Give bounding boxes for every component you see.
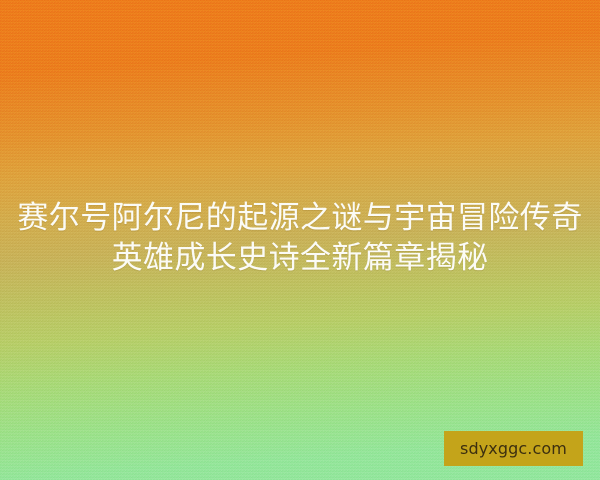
title-block: 赛尔号阿尔尼的起源之谜与宇宙冒险传奇 英雄成长史诗全新篇章揭秘 bbox=[0, 198, 600, 278]
title-card-canvas: 赛尔号阿尔尼的起源之谜与宇宙冒险传奇 英雄成长史诗全新篇章揭秘 sdyxggc.… bbox=[0, 0, 600, 480]
watermark-text: sdyxggc.com bbox=[460, 441, 567, 457]
title-line-1: 赛尔号阿尔尼的起源之谜与宇宙冒险传奇 bbox=[14, 198, 586, 238]
title-line-2: 英雄成长史诗全新篇章揭秘 bbox=[14, 238, 586, 278]
watermark-badge: sdyxggc.com bbox=[444, 431, 583, 466]
